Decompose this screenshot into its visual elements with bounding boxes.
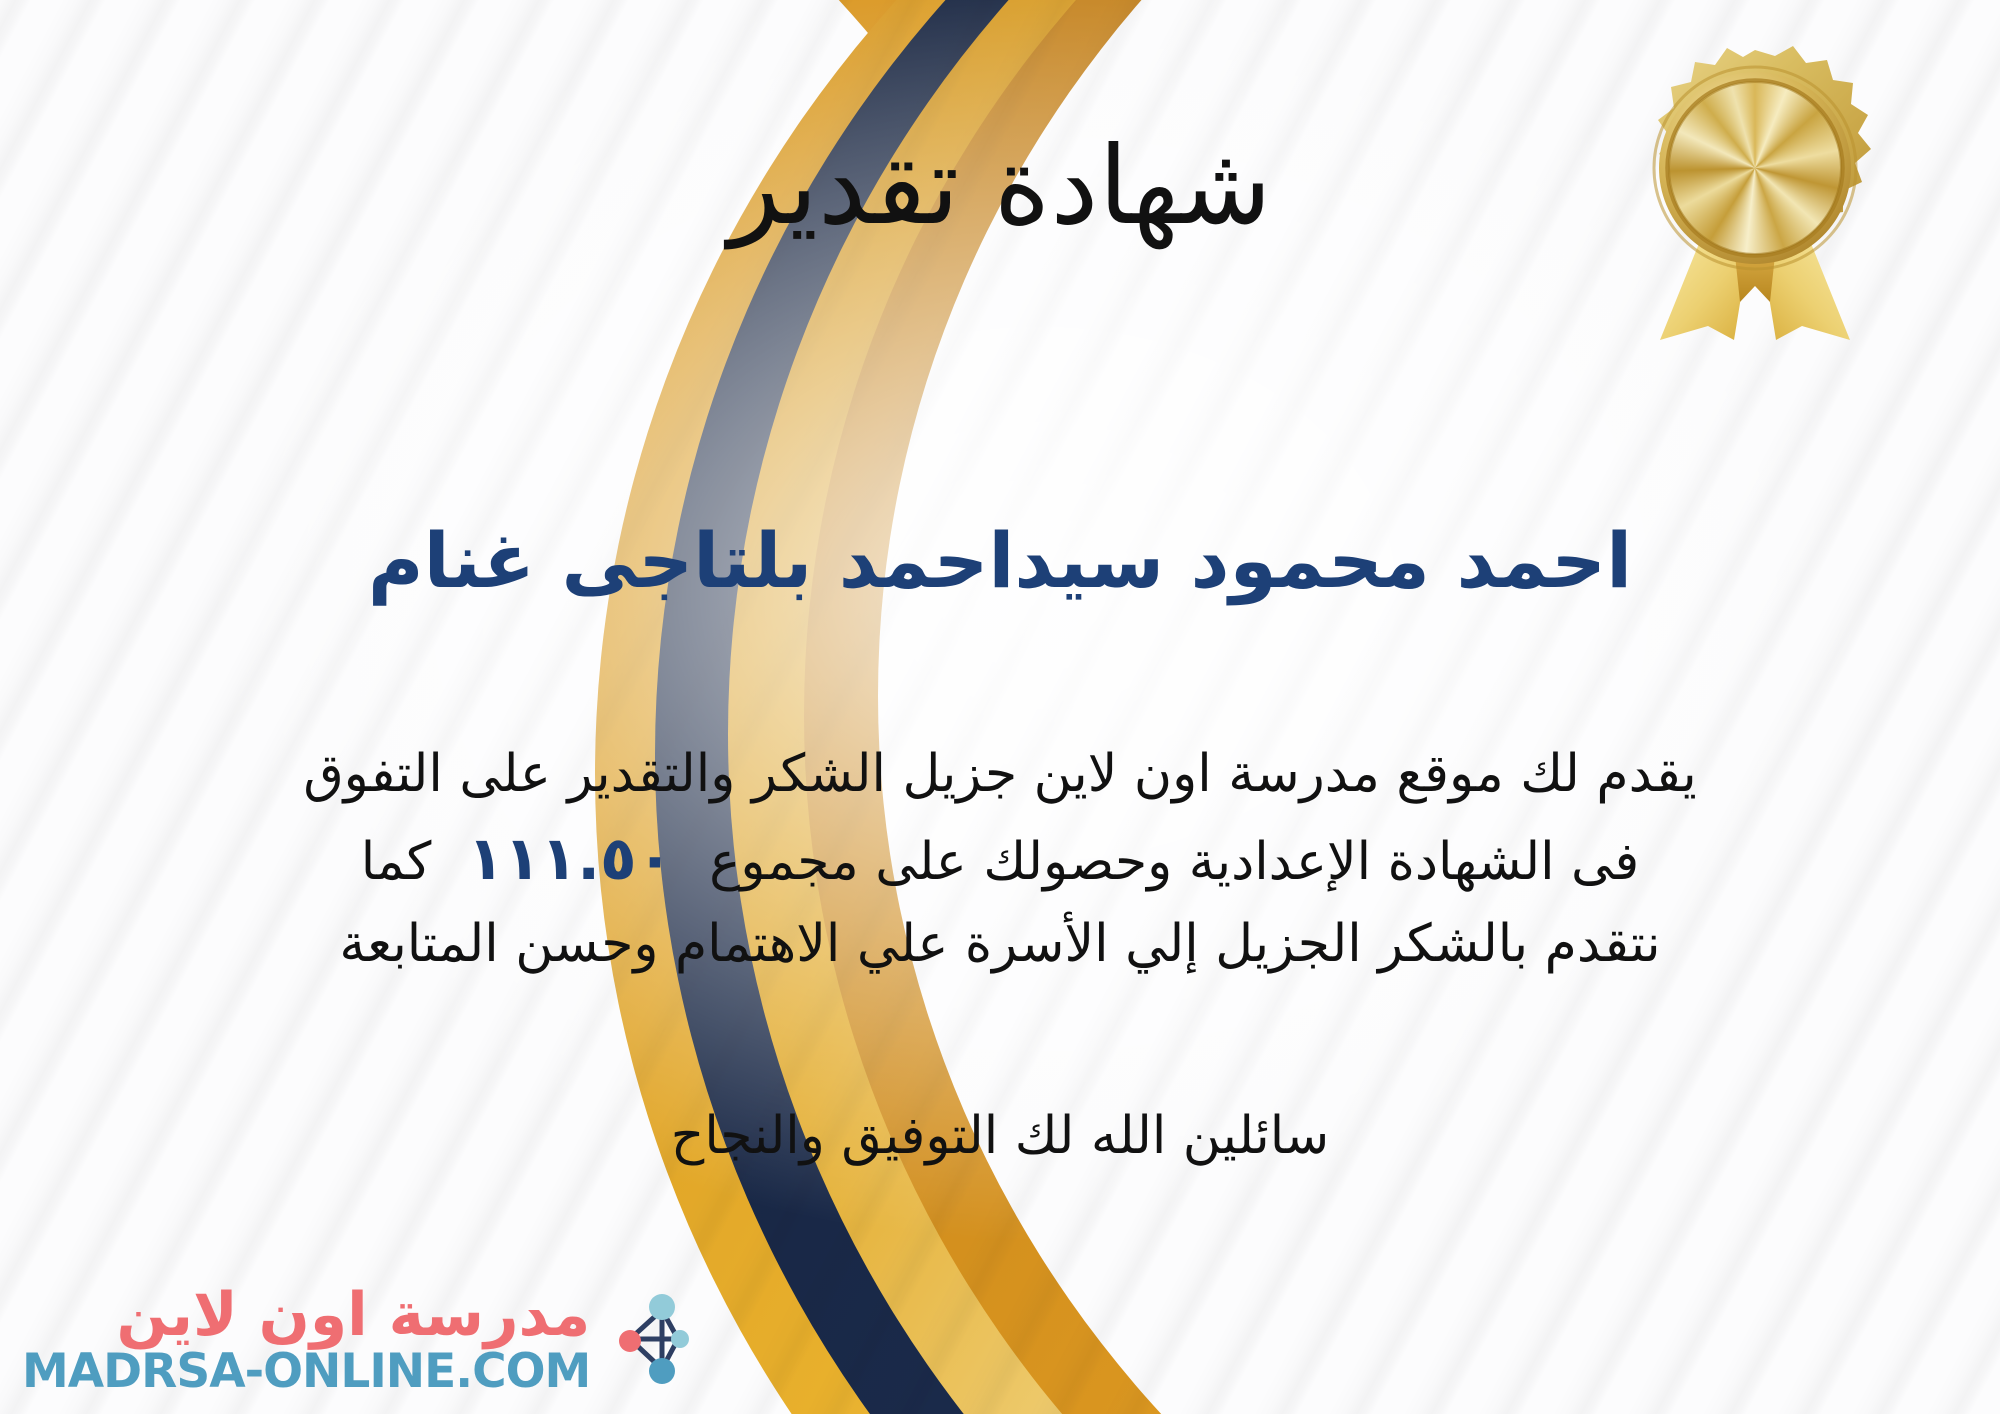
brand-website: MADRSA-ONLINE.COM [22, 1347, 590, 1396]
certificate-canvas: شهادة تقدير احمد محمود سيداحمد بلتاجى غن… [0, 0, 2000, 1414]
network-nodes-icon [600, 1293, 692, 1389]
brand-arabic-name: مدرسة اون لاين [117, 1285, 591, 1346]
gold-award-medal-icon [1630, 40, 1880, 340]
student-name: احمد محمود سيداحمد بلتاجى غنام [0, 515, 2000, 606]
certificate-body: يقدم لك موقع مدرسة اون لاين جزيل الشكر و… [55, 735, 1945, 984]
brand-text: مدرسة اون لاين MADRSA-ONLINE.COM [22, 1285, 590, 1396]
closing-wish: سائلين الله لك التوفيق والنجاح [0, 1100, 2000, 1173]
body-line-3: نتقدم بالشكر الجزيل إلي الأسرة علي الاهت… [55, 905, 1945, 984]
total-score-value: ١١١.٥٠ [431, 824, 709, 894]
body-line-2-prefix: فى الشهادة الإعدادية وحصولك على مجموع [709, 832, 1639, 892]
body-line-2: فى الشهادة الإعدادية وحصولك على مجموع١١١… [55, 814, 1945, 905]
brand-logo[interactable]: مدرسة اون لاين MADRSA-ONLINE.COM [22, 1285, 692, 1396]
body-line-2-suffix: كما [361, 832, 432, 892]
body-line-1: يقدم لك موقع مدرسة اون لاين جزيل الشكر و… [55, 735, 1945, 814]
